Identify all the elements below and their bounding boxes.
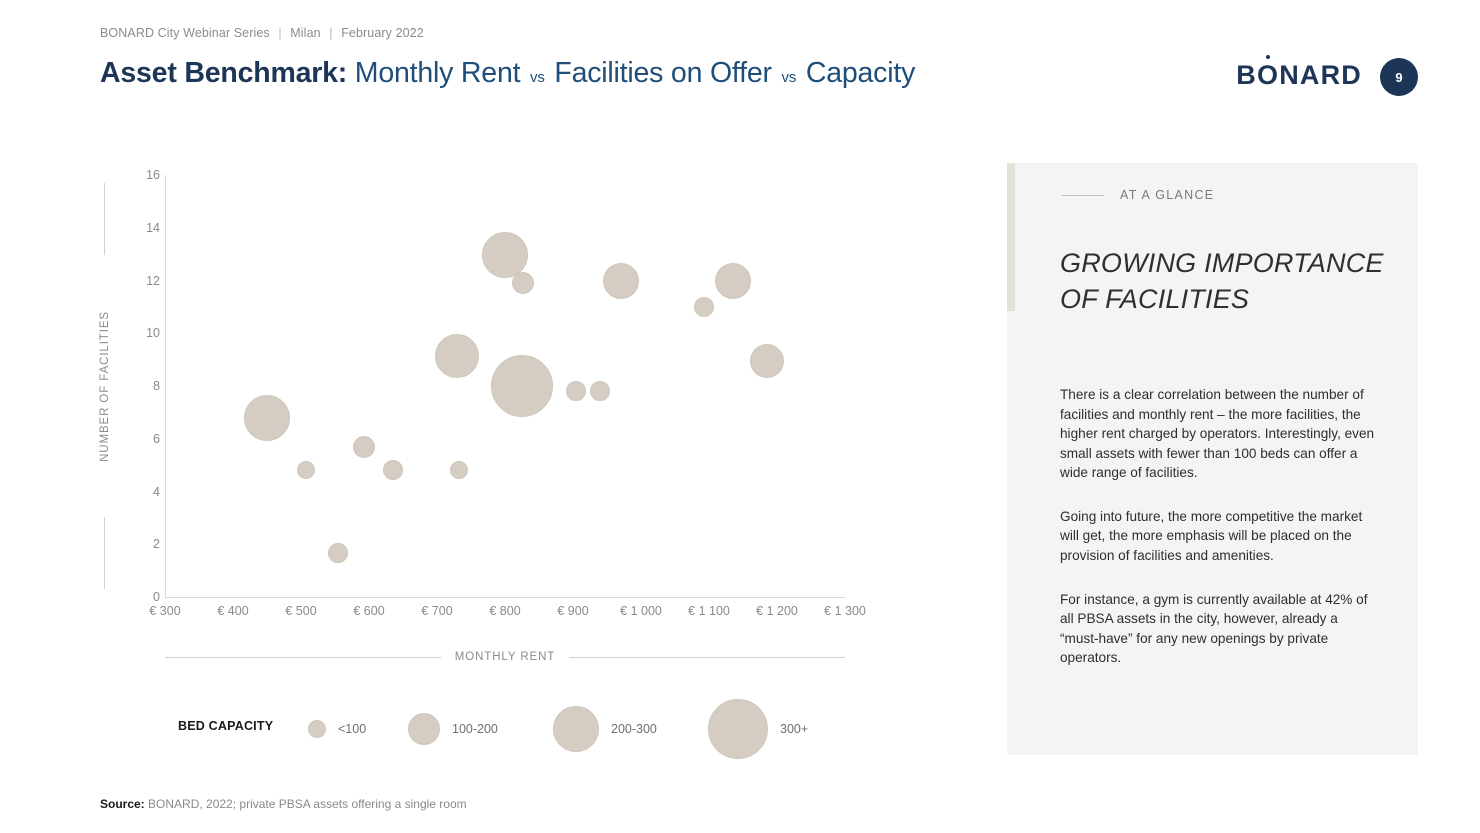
chart-bubble	[566, 381, 586, 401]
y-axis-tick-label: 12	[126, 274, 160, 288]
x-axis-tick-label: € 300	[149, 604, 180, 618]
x-axis-tick-label: € 900	[557, 604, 588, 618]
logo-letters-nard: NARD	[1279, 60, 1362, 90]
x-axis-tick-label: € 1 200	[756, 604, 798, 618]
x-axis-title-line-left	[165, 657, 441, 658]
panel-body: There is a clear correlation between the…	[1060, 385, 1380, 692]
y-axis-tick-label: 6	[126, 432, 160, 446]
y-axis-tick-label: 8	[126, 379, 160, 393]
chart-bubble	[590, 381, 610, 401]
legend-label: <100	[338, 722, 366, 736]
chart-bubble	[297, 461, 315, 479]
panel-paragraph: For instance, a gym is currently availab…	[1060, 590, 1380, 668]
x-axis-title-line-right	[569, 657, 845, 658]
x-axis-tick-label: € 800	[489, 604, 520, 618]
chart-bubble	[450, 461, 468, 479]
chart-bubble	[694, 297, 714, 317]
logo-letter-b: B	[1236, 60, 1257, 90]
bubble-chart: 0246810121416 € 300€ 400€ 500€ 600€ 700€…	[0, 0, 960, 833]
x-axis-tick-label: € 1 100	[688, 604, 730, 618]
panel-paragraph: Going into future, the more competitive …	[1060, 507, 1380, 566]
chart-bubble	[383, 460, 403, 480]
source-note: Source: BONARD, 2022; private PBSA asset…	[100, 797, 467, 811]
x-axis-tick-label: € 700	[421, 604, 452, 618]
x-axis-title-wrap: MONTHLY RENT	[165, 650, 845, 664]
x-axis-tick-label: € 600	[353, 604, 384, 618]
chart-legend: BED CAPACITY <100100-200200-300300+	[178, 700, 878, 758]
source-label: Source:	[100, 797, 145, 811]
x-axis-tick-label: € 1 000	[620, 604, 662, 618]
panel-heading: GROWING IMPORTANCE OF FACILITIES	[1060, 246, 1400, 317]
chart-bubble	[491, 355, 553, 417]
y-axis-title-line-top	[104, 183, 105, 255]
y-axis-tick-label: 2	[126, 537, 160, 551]
y-axis-tick-label: 10	[126, 326, 160, 340]
legend-label: 300+	[780, 722, 808, 736]
y-axis-tick-label: 0	[126, 590, 160, 604]
chart-bubble	[244, 395, 290, 441]
y-axis-title-line-bottom	[104, 517, 105, 589]
legend-label: 100-200	[452, 722, 498, 736]
panel-eyebrow: AT A GLANCE	[1062, 188, 1214, 202]
legend-bubble	[708, 699, 768, 759]
y-axis-title: NUMBER OF FACILITIES	[99, 311, 111, 462]
chart-bubble	[353, 436, 375, 458]
panel-accent-bar	[1007, 163, 1015, 311]
legend-bubble	[308, 720, 326, 738]
slide: BONARD City Webinar Series | Milan | Feb…	[0, 0, 1480, 833]
x-axis-title: MONTHLY RENT	[455, 651, 555, 663]
page-number-badge: 9	[1380, 58, 1418, 96]
plot-area	[165, 175, 845, 597]
x-axis-tick-label: € 1 300	[824, 604, 866, 618]
chart-bubble	[715, 263, 751, 299]
bonard-logo: BONARD	[1236, 60, 1362, 91]
y-axis-title-wrap: NUMBER OF FACILITIES	[96, 175, 114, 597]
x-axis-tick-label: € 500	[285, 604, 316, 618]
chart-bubble	[603, 263, 639, 299]
legend-title: BED CAPACITY	[178, 719, 273, 733]
chart-bubble	[328, 543, 348, 563]
legend-bubble	[553, 706, 599, 752]
y-axis-tick-label: 16	[126, 168, 160, 182]
legend-label: 200-300	[611, 722, 657, 736]
logo-letter-o-dot-icon: O	[1257, 60, 1279, 91]
y-axis-tick-label: 4	[126, 485, 160, 499]
x-axis-line	[165, 597, 845, 598]
legend-bubble	[408, 713, 440, 745]
y-axis-tick-label: 14	[126, 221, 160, 235]
x-axis-tick-label: € 400	[217, 604, 248, 618]
y-axis-ticks: 0246810121416	[120, 175, 160, 597]
panel-paragraph: There is a clear correlation between the…	[1060, 385, 1380, 483]
chart-bubble	[750, 344, 784, 378]
panel-eyebrow-label: AT A GLANCE	[1120, 188, 1214, 202]
chart-bubble	[512, 272, 534, 294]
panel-eyebrow-line	[1062, 195, 1104, 196]
chart-bubble	[435, 334, 479, 378]
source-text: BONARD, 2022; private PBSA assets offeri…	[145, 797, 467, 811]
